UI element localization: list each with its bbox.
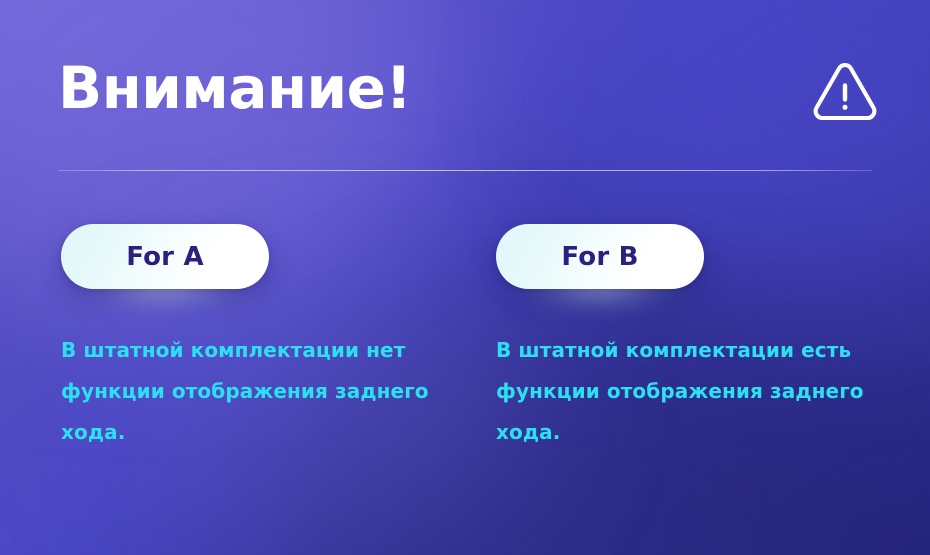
for-a-button-wrapper: For A [61, 224, 269, 289]
for-b-button[interactable]: For B [496, 224, 704, 289]
header-divider [58, 170, 872, 171]
for-a-description: В штатной комплектации нет функции отобр… [61, 289, 446, 453]
warning-slide: Внимание! For A В штатной комплектации н… [0, 0, 930, 555]
column-for-a: For A В штатной комплектации нет функции… [61, 224, 481, 453]
column-for-b: For B В штатной комплектации есть функци… [496, 224, 916, 453]
for-b-description: В штатной комплектации есть функции отоб… [496, 289, 881, 453]
for-b-button-wrapper: For B [496, 224, 704, 289]
page-title: Внимание! [58, 52, 411, 124]
for-a-button[interactable]: For A [61, 224, 269, 289]
warning-triangle-icon [812, 62, 878, 124]
slide-content: Внимание! For A В штатной комплектации н… [0, 0, 930, 555]
